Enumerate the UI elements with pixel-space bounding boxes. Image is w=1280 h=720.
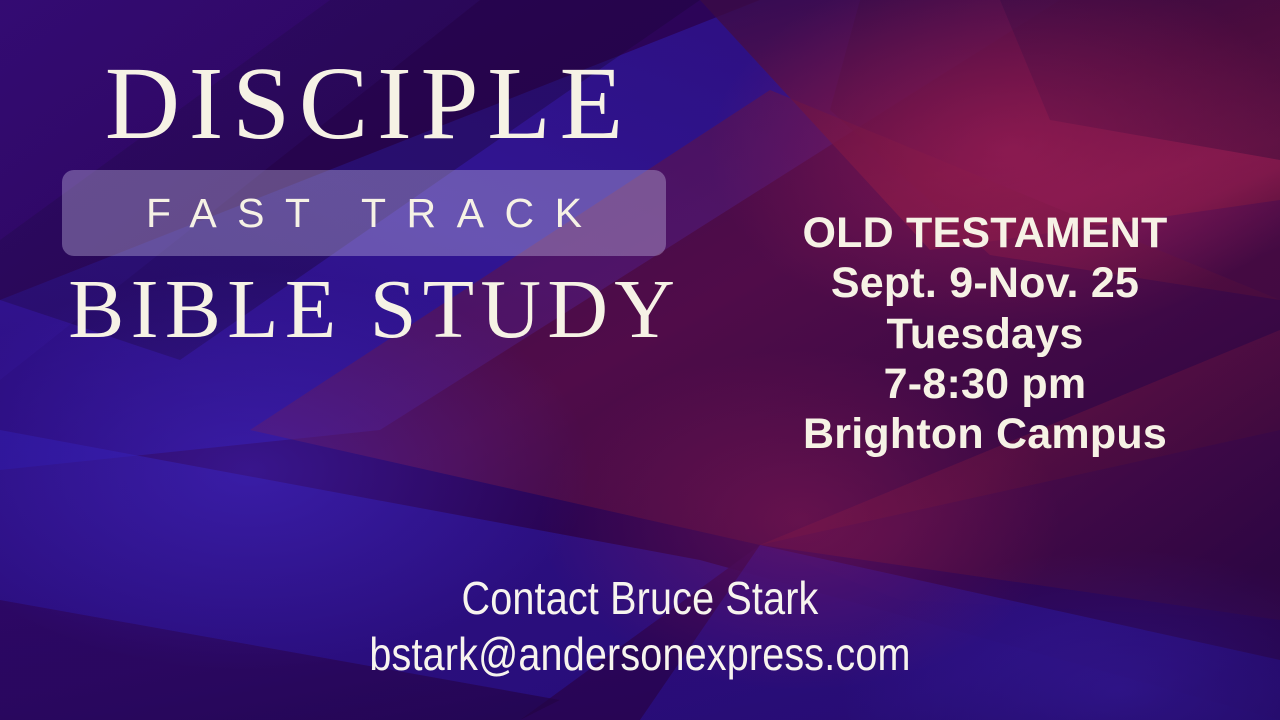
detail-line-day: Tuesdays — [700, 309, 1270, 359]
fast-track-badge: FAST TRACK — [62, 170, 666, 256]
logo-word-bible-study: BIBLE STUDY — [62, 256, 666, 352]
event-poster: DISCIPLE FAST TRACK BIBLE STUDY OLD TEST… — [0, 0, 1280, 720]
contact-email: bstark@andersonexpress.com — [296, 626, 984, 682]
logo-word-disciple: DISCIPLE — [62, 52, 666, 156]
fast-track-label: FAST TRACK — [126, 190, 603, 237]
detail-line-location: Brighton Campus — [700, 409, 1270, 459]
detail-line-dates: Sept. 9-Nov. 25 — [700, 258, 1270, 308]
contact-name: Contact Bruce Stark — [296, 570, 984, 626]
contact-block: Contact Bruce Stark bstark@andersonexpre… — [240, 570, 1040, 682]
event-details-block: OLD TESTAMENT Sept. 9-Nov. 25 Tuesdays 7… — [700, 208, 1270, 459]
disciple-logo-block: DISCIPLE FAST TRACK BIBLE STUDY — [62, 52, 666, 352]
detail-line-course: OLD TESTAMENT — [700, 208, 1270, 258]
detail-line-time: 7-8:30 pm — [700, 359, 1270, 409]
